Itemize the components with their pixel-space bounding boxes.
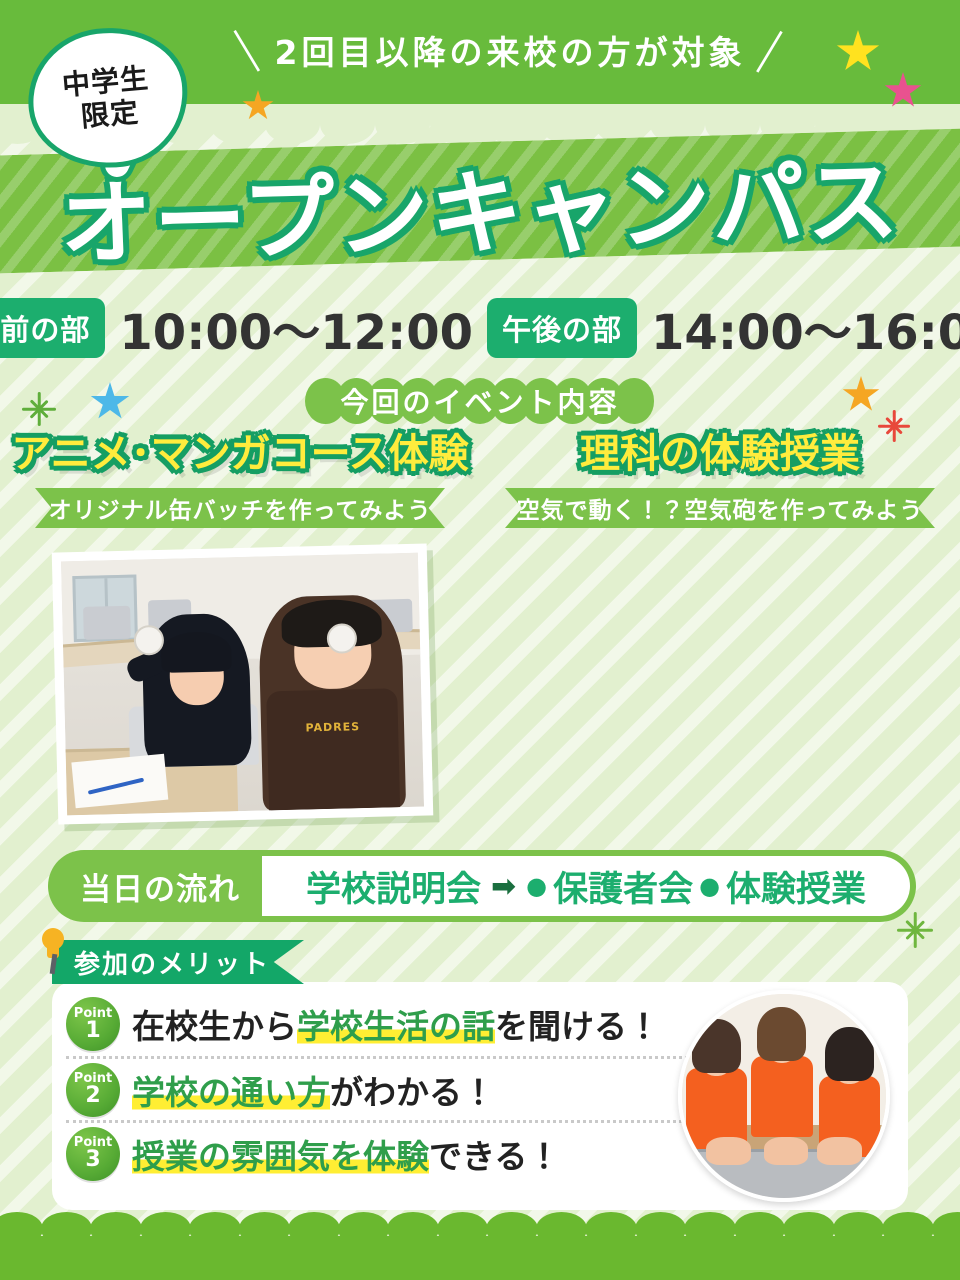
merits-photo — [678, 990, 890, 1202]
flow-step-3: 体験授業 — [726, 861, 866, 912]
classroom-scene: PADRES — [61, 553, 424, 816]
merits-tag: 参加のメリット — [52, 940, 304, 984]
course-photo-anime: PADRES — [52, 543, 434, 824]
course-title-anime: アニメ･マンガコース体験 — [0, 428, 480, 474]
merit-text-3-hl: 授業の雰囲気を体験 — [132, 1137, 429, 1176]
footer-scallop — [0, 1208, 960, 1280]
merits-card: Point 1 在校生から学校生活の話を聞ける！ Point 2 学校の通い方が… — [52, 982, 908, 1210]
course-column-anime: アニメ･マンガコース体験 オリジナル缶バッチを作ってみよう — [0, 428, 480, 528]
afternoon-label: 午後の部 — [487, 298, 637, 358]
point-badge-number-2: 2 — [85, 1085, 100, 1107]
course-column-science: 理科の体験授業 空気で動く！？空気砲を作ってみよう — [480, 428, 960, 528]
point-badge-number-3: 3 — [85, 1149, 100, 1171]
slash-left-icon: ＼ — [217, 18, 280, 81]
schedule-row: 午前の部 10:00～12:00 午後の部 14:00～16:00 — [0, 296, 960, 360]
merit-text-1: 在校生から学校生活の話を聞ける！ — [132, 1000, 660, 1048]
poster-root: ＼ 2回目以降の来校の方が対象 ／ 中学生 限定 オープンキャンパス 午前の部 … — [0, 0, 960, 1280]
day-flow-steps: 学校説明会 ➡ ● 保護者会 ● 体験授業 — [262, 856, 910, 916]
sparkle-icon-left-green — [26, 392, 52, 426]
hand-icon-1 — [706, 1137, 751, 1166]
bullet-dot-icon-2: ● — [699, 872, 720, 900]
merit-text-1-pre: 在校生から — [132, 1007, 297, 1046]
push-pin-icon — [38, 928, 68, 974]
merit-text-2-hl: 学校の通い方 — [132, 1073, 330, 1112]
course-subtitle-science: 空気で動く！？空気砲を作ってみよう — [505, 488, 935, 528]
slash-right-icon: ／ — [740, 18, 803, 81]
merits-list: Point 1 在校生から学校生活の話を聞ける！ Point 2 学校の通い方が… — [66, 992, 706, 1184]
event-content-badge: 今回のイベント内容 — [314, 378, 645, 424]
staff-student-2 — [751, 1014, 812, 1136]
staff-student-1 — [686, 1027, 747, 1149]
merit-text-1-hl: 学校生活の話 — [297, 1007, 495, 1046]
day-flow-bar: 当日の流れ 学校説明会 ➡ ● 保護者会 ● 体験授業 — [48, 850, 916, 922]
can-badge-icon-right — [327, 623, 358, 654]
point-badge-1: Point 1 — [66, 997, 120, 1051]
bubble-body: 中学生 限定 — [20, 19, 196, 177]
flow-step-2: 保護者会 — [553, 861, 693, 912]
tee-logo-text: PADRES — [285, 719, 380, 734]
afternoon-time: 14:00～16:00 — [651, 293, 960, 363]
photo-anime-inner: PADRES — [61, 553, 424, 816]
sparkle-icon-bottom-green — [902, 912, 928, 948]
kicker-text: ＼ 2回目以降の来校の方が対象 ／ — [180, 22, 840, 78]
point-badge-3: Point 3 — [66, 1127, 120, 1181]
courses-section: アニメ･マンガコース体験 オリジナル缶バッチを作ってみよう — [0, 428, 960, 828]
sparkle-icon-right-red — [882, 410, 906, 442]
limited-badge: 中学生 限定 — [28, 28, 188, 168]
day-flow-label: 当日の流れ — [54, 864, 262, 909]
hand-icon-3 — [817, 1137, 862, 1166]
merit-text-1-post: を聞ける！ — [495, 1007, 660, 1046]
event-content-label: 今回のイベント内容 — [314, 381, 645, 421]
orange-shirts-scene — [682, 994, 886, 1198]
course-subtitle-anime: オリジナル缶バッチを作ってみよう — [35, 488, 445, 528]
merit-item: Point 3 授業の雰囲気を体験できる！ — [66, 1120, 706, 1184]
event-pill-wrap: 今回のイベント内容 — [0, 378, 960, 424]
point-badge-2: Point 2 — [66, 1063, 120, 1117]
merit-text-3: 授業の雰囲気を体験できる！ — [132, 1130, 560, 1178]
merit-item: Point 1 在校生から学校生活の話を聞ける！ — [66, 992, 706, 1056]
merit-item: Point 2 学校の通い方がわかる！ — [66, 1056, 706, 1120]
flow-step-1: 学校説明会 — [306, 861, 481, 912]
bullet-dot-icon-1: ● — [526, 872, 547, 900]
merit-text-2: 学校の通い方がわかる！ — [132, 1066, 495, 1114]
morning-label: 午前の部 — [0, 298, 105, 358]
morning-time: 10:00～12:00 — [119, 293, 473, 363]
hand-icon-2 — [764, 1137, 809, 1166]
merit-text-3-post: できる！ — [429, 1137, 560, 1176]
point-badge-number-1: 1 — [85, 1020, 100, 1042]
kicker-label: 2回目以降の来校の方が対象 — [275, 26, 746, 74]
bubble-line2: 限定 — [80, 95, 141, 133]
merit-text-2-post: がわかる！ — [330, 1073, 495, 1112]
arrow-right-icon: ➡ — [487, 869, 520, 904]
